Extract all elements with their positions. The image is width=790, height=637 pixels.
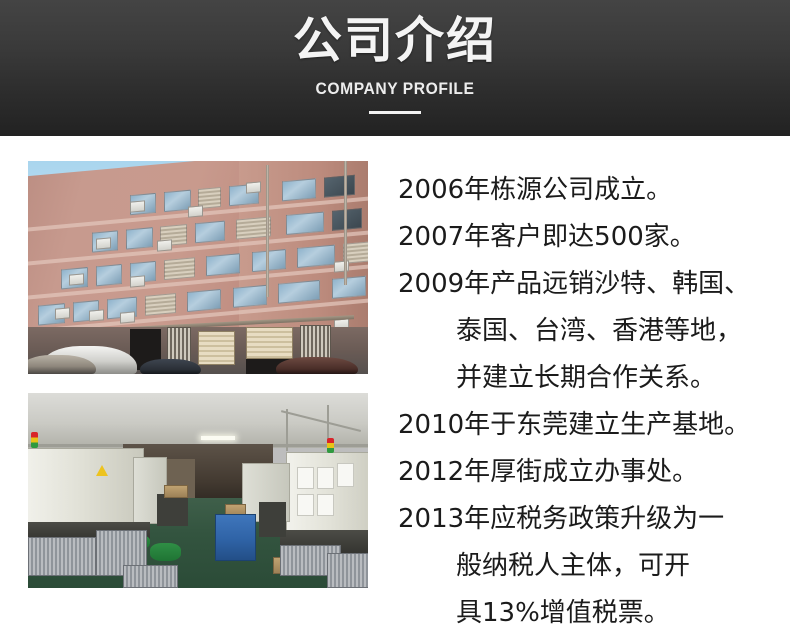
cardboard-box [164, 485, 188, 499]
status-tower-light [327, 438, 334, 453]
cnc-machine-right [286, 452, 368, 534]
air-conditioner-unit [130, 275, 145, 287]
header-banner: 公司介绍 COMPANY PROFILE [0, 0, 790, 136]
ceiling-support [286, 409, 288, 452]
profile-line: 2010年于东莞建立生产基地。 [398, 402, 790, 449]
air-conditioner-unit [69, 273, 84, 285]
green-basin [150, 543, 181, 561]
parked-car [140, 359, 201, 374]
profile-line: 泰国、台湾、香港等地， [398, 308, 790, 355]
roller-shutter [198, 331, 235, 365]
profile-line: 2009年产品远销沙特、韩国、 [398, 261, 790, 308]
posted-document [337, 463, 354, 486]
page-title: 公司介绍 [0, 14, 790, 68]
company-building-photo [28, 161, 368, 374]
air-conditioner-unit [157, 239, 172, 251]
stacked-metal-parts [123, 565, 177, 588]
profile-line: 具13%增值税票。 [398, 590, 790, 637]
cnc-machine-left [28, 448, 144, 526]
storage-rack [157, 494, 188, 525]
air-conditioner-unit [89, 309, 104, 321]
posted-document [297, 494, 314, 515]
air-conditioner-unit [246, 182, 261, 194]
page-subtitle: COMPANY PROFILE [32, 79, 759, 99]
blue-storage-bin [215, 514, 256, 561]
status-tower-light [31, 432, 38, 448]
posted-document [317, 494, 334, 515]
air-conditioner-unit [96, 237, 111, 249]
drain-pipe [344, 161, 347, 285]
profile-line: 2007年客户即达500家。 [398, 214, 790, 261]
header-divider [369, 111, 421, 114]
profile-line: 2006年栋源公司成立。 [398, 167, 790, 214]
drain-pipe [266, 165, 269, 297]
air-conditioner-unit [120, 312, 135, 324]
air-conditioner-unit [130, 201, 145, 213]
air-conditioner-unit [55, 307, 70, 319]
stacked-metal-parts [28, 537, 96, 576]
parked-car [276, 357, 358, 374]
posted-document [317, 467, 334, 488]
profile-line: 2013年应税务政策升级为一 [398, 496, 790, 543]
factory-workshop-photo [28, 393, 368, 588]
profile-line: 般纳税人主体，可开 [398, 543, 790, 590]
warning-triangle-icon [96, 465, 108, 476]
roller-shutter [246, 327, 294, 359]
air-conditioner-unit [188, 205, 203, 217]
company-profile-text: 2006年栋源公司成立。 2007年客户即达500家。 2009年产品远销沙特、… [398, 167, 790, 637]
profile-line: 并建立长期合作关系。 [398, 355, 790, 402]
stacked-metal-parts [327, 553, 368, 588]
profile-line: 2012年厚街成立办事处。 [398, 449, 790, 496]
ceiling-light [201, 436, 235, 440]
company-profile-page: 公司介绍 COMPANY PROFILE [0, 0, 790, 620]
posted-document [297, 467, 314, 488]
tool-cart [259, 502, 286, 537]
